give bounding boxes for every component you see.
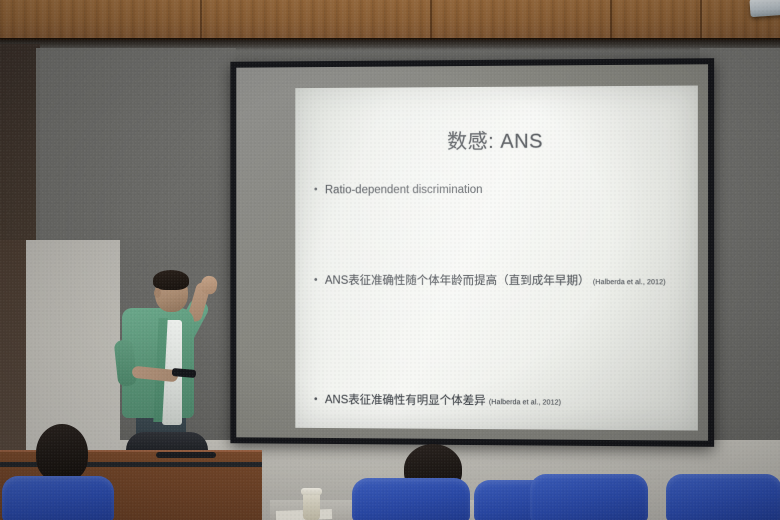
slide-title: 数感: ANS: [295, 124, 698, 155]
auditorium-chair: [530, 474, 648, 520]
presenter: [110, 268, 235, 458]
wood-ceiling-panel: [0, 0, 780, 40]
projected-slide: 数感: ANS Ratio-dependent discrimination A…: [295, 86, 698, 431]
coffee-cup-lid: [301, 488, 322, 495]
slide-bullet-3-citation: (Halberda et al., 2012): [489, 399, 561, 406]
auditorium-chair: [352, 478, 470, 520]
slide-bullet-3: ANS表征准确性有明显个体差异 (Halberda et al., 2012): [313, 393, 684, 411]
wood-seam: [700, 0, 702, 40]
presenter-ear: [154, 288, 161, 298]
auditorium-chair: [666, 474, 780, 520]
desk-bag-strap: [156, 452, 216, 458]
wood-seam: [610, 0, 612, 40]
wood-seam: [200, 0, 202, 40]
presenter-hand-pointing: [200, 275, 219, 296]
audience-head: [36, 424, 88, 482]
projection-screen-frame: 数感: ANS Ratio-dependent discrimination A…: [230, 58, 714, 447]
ceiling-light-fixture: [749, 0, 780, 17]
lower-wall-left-dark-strip: [0, 240, 26, 470]
wood-seam: [430, 0, 432, 40]
slide-bullet-2-text: ANS表征准确性随个体年龄而提高（直到成年早期）: [325, 275, 590, 287]
presenter-hair: [153, 270, 189, 290]
slide-bullet-3-text: ANS表征准确性有明显个体差异: [325, 394, 486, 407]
slide-bullet-2: ANS表征准确性随个体年龄而提高（直到成年早期） (Halberda et al…: [313, 274, 684, 290]
projection-screen-surface: 数感: ANS Ratio-dependent discrimination A…: [236, 64, 708, 440]
auditorium-chair: [2, 476, 114, 520]
lecture-hall-photo: 数感: ANS Ratio-dependent discrimination A…: [0, 0, 780, 520]
slide-bullet-2-citation: (Halberda et al., 2012): [593, 279, 666, 286]
slide-bullet-1: Ratio-dependent discrimination: [313, 182, 684, 198]
slide-bullet-list: Ratio-dependent discrimination ANS表征准确性随…: [313, 182, 684, 230]
slide-bullet-1-text: Ratio-dependent discrimination: [325, 184, 483, 196]
